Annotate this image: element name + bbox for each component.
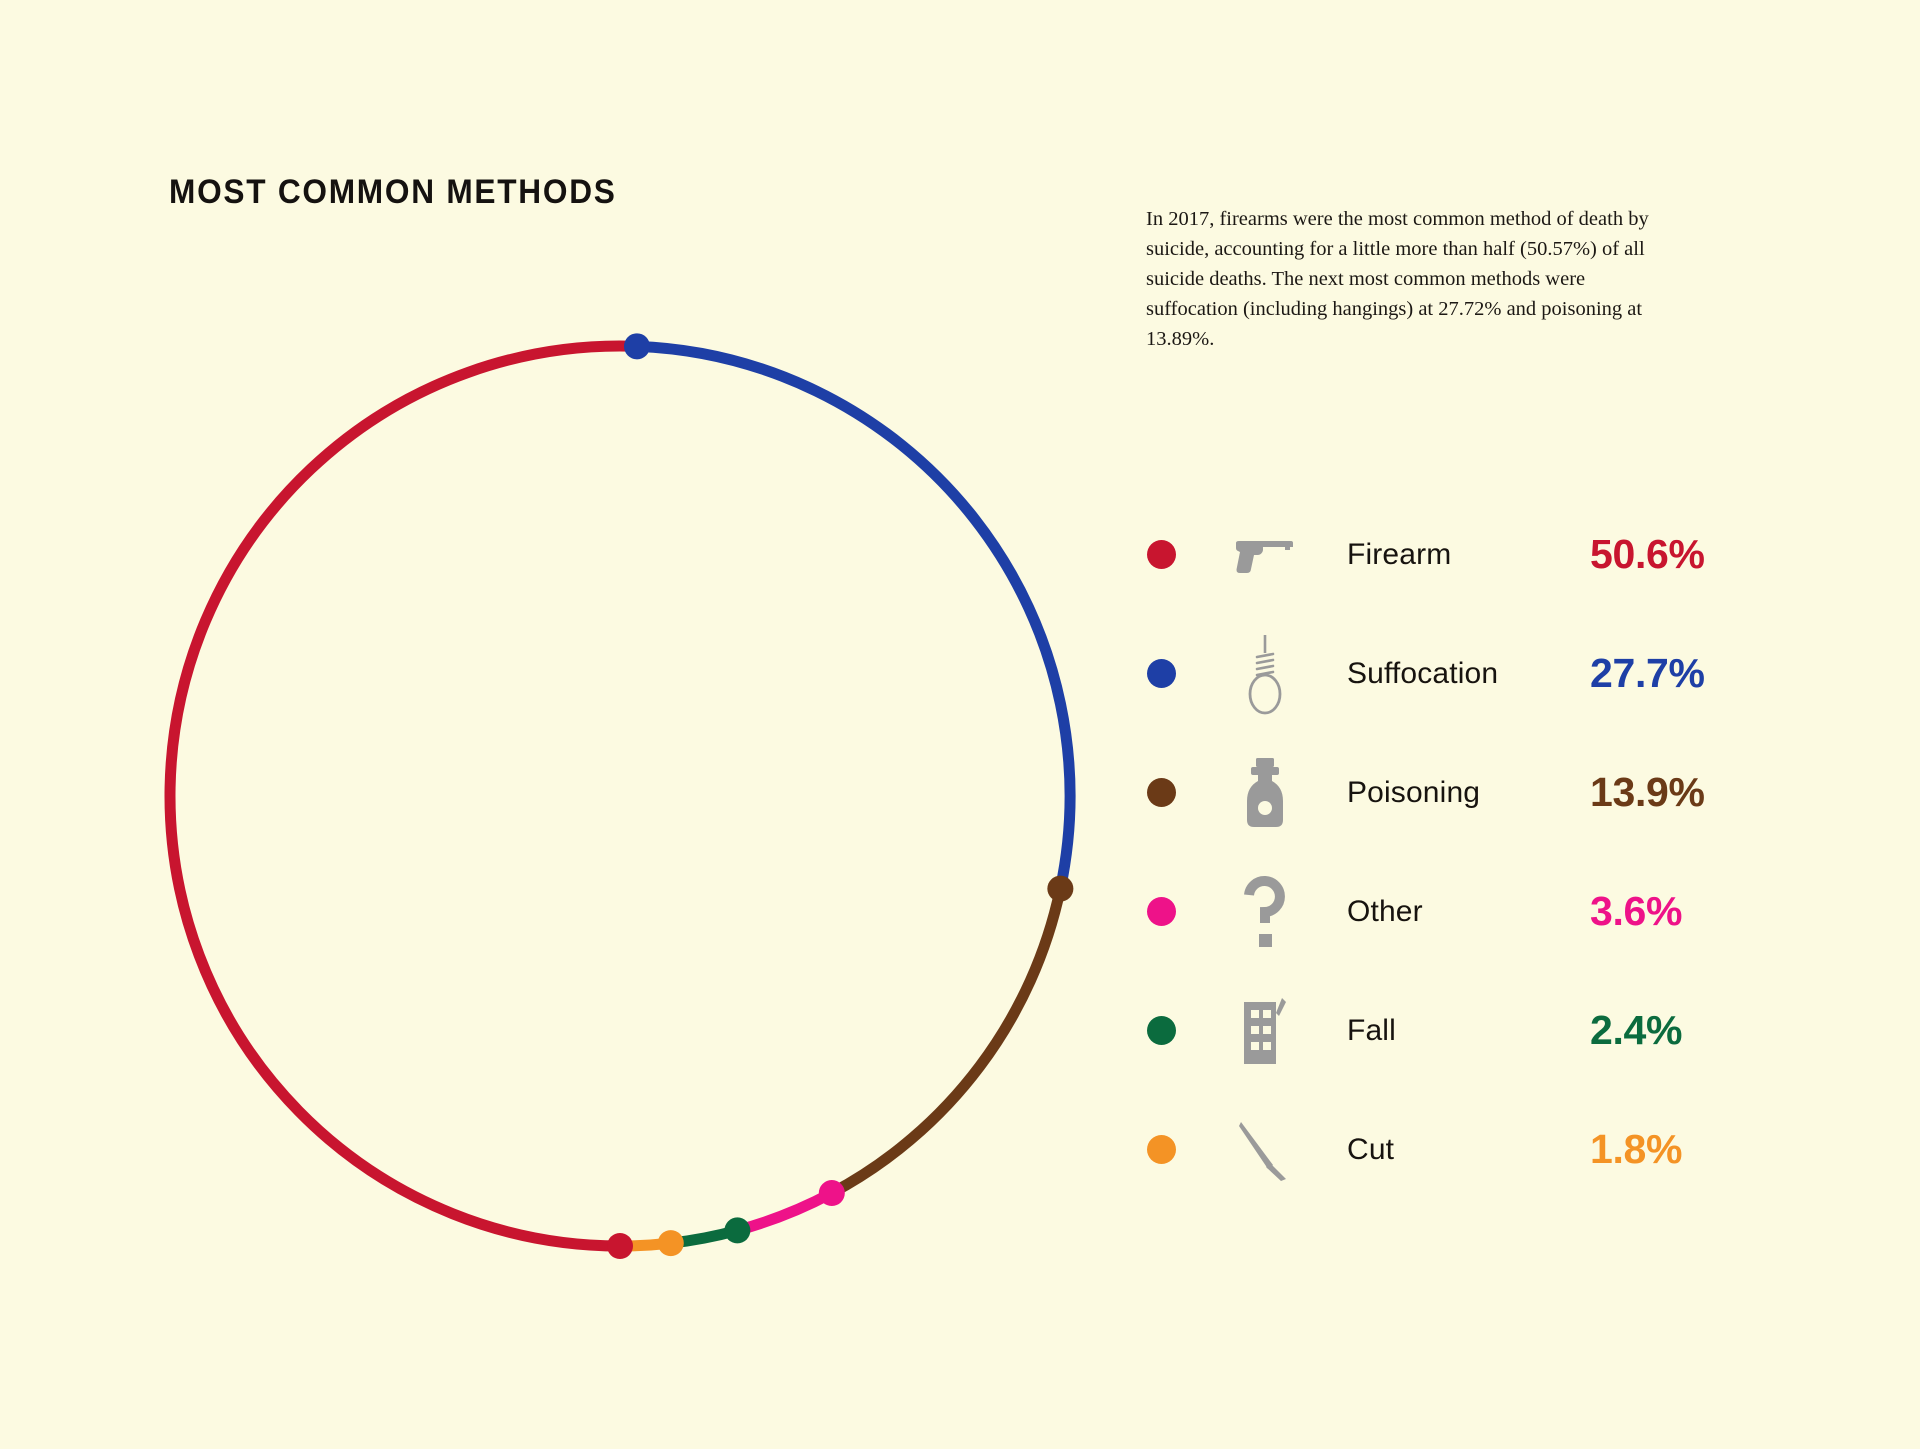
- arc-segment-suffocation: [637, 346, 1070, 888]
- legend-label: Fall: [1347, 1014, 1590, 1048]
- legend-swatch-other: [1147, 897, 1176, 926]
- legend-swatch-poisoning: [1147, 778, 1176, 807]
- segment-node-firearm: [607, 1233, 633, 1259]
- segment-node-poisoning: [1047, 876, 1073, 902]
- legend-row-suffocation[interactable]: Suffocation27.7%: [1135, 614, 1775, 733]
- legend-label: Other: [1347, 895, 1590, 929]
- knife-icon: [1234, 1117, 1296, 1183]
- segment-node-fall: [724, 1217, 750, 1243]
- legend-value: 3.6%: [1590, 888, 1682, 935]
- legend-swatch-suffocation: [1147, 659, 1176, 688]
- legend-value: 1.8%: [1590, 1126, 1682, 1173]
- legend-value: 2.4%: [1590, 1007, 1682, 1054]
- knife-icon: [1228, 1108, 1302, 1192]
- handgun-icon: [1228, 513, 1302, 597]
- legend: Firearm50.6% Suffocation27.7% Poisoning1…: [1135, 495, 1775, 1209]
- intro-paragraph: In 2017, firearms were the most common m…: [1146, 204, 1680, 355]
- building-fall-icon: [1228, 989, 1302, 1073]
- legend-value: 50.6%: [1590, 531, 1705, 578]
- legend-row-firearm[interactable]: Firearm50.6%: [1135, 495, 1775, 614]
- circle-chart: [140, 320, 1100, 1320]
- noose-icon: [1228, 632, 1302, 716]
- segment-node-suffocation: [624, 333, 650, 359]
- arc-segments: [170, 346, 1070, 1246]
- question-mark-icon: [1228, 870, 1302, 954]
- building-fall-icon: [1238, 996, 1292, 1066]
- circle-chart-svg: [140, 320, 1100, 1320]
- legend-row-cut[interactable]: Cut1.8%: [1135, 1090, 1775, 1209]
- segment-node-cut: [658, 1230, 684, 1256]
- arc-segment-poisoning: [832, 889, 1061, 1193]
- legend-row-fall[interactable]: Fall2.4%: [1135, 971, 1775, 1090]
- arc-segment-firearm: [170, 346, 637, 1246]
- legend-label: Suffocation: [1347, 657, 1590, 691]
- legend-label: Poisoning: [1347, 776, 1590, 810]
- noose-icon: [1241, 633, 1289, 715]
- legend-value: 27.7%: [1590, 650, 1705, 697]
- segment-node-other: [819, 1180, 845, 1206]
- legend-value: 13.9%: [1590, 769, 1705, 816]
- legend-swatch-firearm: [1147, 540, 1176, 569]
- legend-swatch-cut: [1147, 1135, 1176, 1164]
- poison-bottle-icon: [1228, 751, 1302, 835]
- poison-bottle-icon: [1239, 756, 1291, 830]
- question-mark-icon: [1243, 876, 1287, 948]
- arc-segment-other: [737, 1193, 831, 1230]
- legend-label: Firearm: [1347, 538, 1590, 572]
- legend-label: Cut: [1347, 1133, 1590, 1167]
- legend-row-poisoning[interactable]: Poisoning13.9%: [1135, 733, 1775, 852]
- legend-swatch-fall: [1147, 1016, 1176, 1045]
- handgun-icon: [1233, 535, 1297, 575]
- page-title: MOST COMMON METHODS: [169, 173, 617, 212]
- legend-row-other[interactable]: Other3.6%: [1135, 852, 1775, 971]
- segment-boundary-nodes: [607, 333, 1073, 1259]
